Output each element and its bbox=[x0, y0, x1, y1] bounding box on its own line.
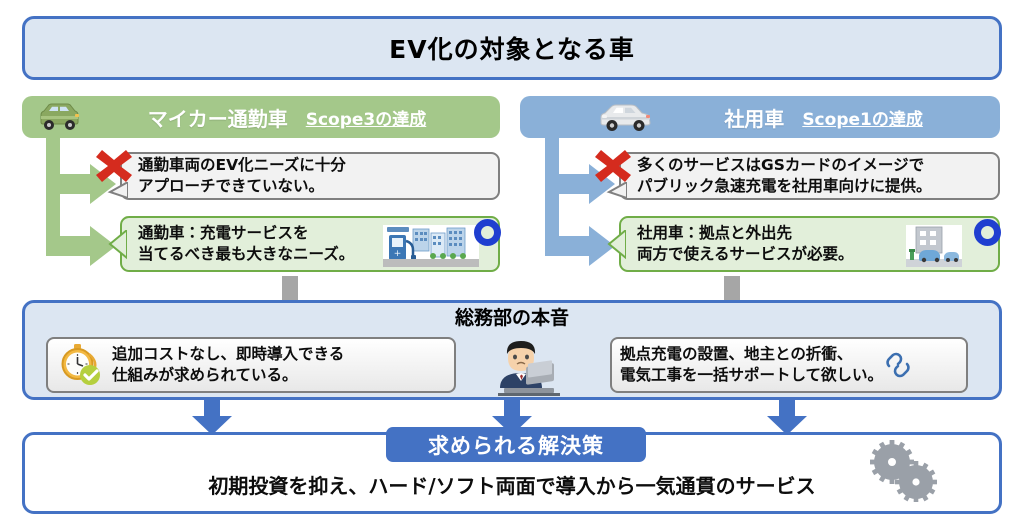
o-mark-icon-commuter bbox=[474, 219, 501, 246]
column-scope-commuter[interactable]: Scope3の達成 bbox=[306, 105, 427, 130]
middle-text-cost: 追加コストなし、即時導入できる 仕組みが求められている。 bbox=[112, 344, 344, 386]
column-header-company[interactable]: 社用車 Scope1の達成 bbox=[520, 96, 1000, 138]
svg-text:+: + bbox=[394, 249, 402, 259]
column-header-commuter[interactable]: マイカー通勤車 Scope3の達成 bbox=[22, 96, 500, 138]
column-label-company: 社用車 bbox=[724, 103, 784, 132]
chain-link-icon bbox=[885, 352, 911, 378]
page-title: EV化の対象となる車 bbox=[389, 30, 635, 66]
gears-icon bbox=[868, 440, 940, 502]
businessman-laptop-icon bbox=[490, 336, 560, 396]
white-car-icon bbox=[597, 102, 655, 132]
need-text-commuter: 通勤車：充電サービスを 当てるべき最も大きなニーズ。 bbox=[138, 223, 354, 265]
need-bubble-tail-company bbox=[606, 230, 626, 260]
down-arrow-left-to-solution bbox=[190, 398, 234, 436]
problem-bubble-company: 多くのサービスはGSカードのイメージで パブリック急速充電を社用車向けに提供。 bbox=[619, 152, 1000, 200]
column-label-commuter: マイカー通勤車 bbox=[148, 103, 288, 132]
o-mark-icon-company bbox=[974, 219, 1001, 246]
middle-text-support: 拠点充電の設置、地主との折衝、 電気工事を一括サポートして欲しい。 bbox=[620, 344, 883, 386]
middle-box-support: 拠点充電の設置、地主との折衝、 電気工事を一括サポートして欲しい。 bbox=[610, 337, 968, 393]
need-bubble-tail-commuter bbox=[107, 230, 127, 260]
pocket-watch-check-icon bbox=[56, 342, 104, 388]
middle-box-cost: 追加コストなし、即時導入できる 仕組みが求められている。 bbox=[46, 337, 456, 393]
column-scope-company[interactable]: Scope1の達成 bbox=[802, 105, 923, 130]
ev-charging-station-icon: + bbox=[383, 225, 479, 267]
green-car-icon bbox=[36, 102, 82, 132]
down-arrow-right-to-solution bbox=[765, 398, 809, 436]
problem-text-commuter: 通勤車両のEV化ニーズに十分 アプローチできていない。 bbox=[138, 155, 346, 197]
diagram-canvas: EV化の対象となる車 マイカー通勤車 Scope3の達成 bbox=[0, 0, 1024, 526]
x-mark-icon-commuter bbox=[94, 144, 134, 184]
problem-bubble-tail-company bbox=[605, 182, 627, 204]
solution-description: 初期投資を抑え、ハード/ソフト両面で導入から一気通貫のサービス bbox=[22, 470, 1002, 499]
solution-badge-label: 求められる解決策 bbox=[428, 430, 604, 460]
office-building-charging-icon bbox=[906, 225, 962, 267]
main-title-box: EV化の対象となる車 bbox=[22, 16, 1002, 80]
solution-badge: 求められる解決策 bbox=[386, 427, 646, 462]
problem-bubble-commuter: 通勤車両のEV化ニーズに十分 アプローチできていない。 bbox=[120, 152, 500, 200]
problem-text-company: 多くのサービスはGSカードのイメージで パブリック急速充電を社用車向けに提供。 bbox=[637, 155, 932, 197]
need-text-company: 社用車：拠点と外出先 両方で使えるサービスが必要。 bbox=[637, 223, 854, 265]
x-mark-icon-company bbox=[593, 144, 633, 184]
middle-panel-title: 総務部の本音 bbox=[0, 303, 1024, 330]
problem-bubble-tail-commuter bbox=[106, 182, 128, 204]
